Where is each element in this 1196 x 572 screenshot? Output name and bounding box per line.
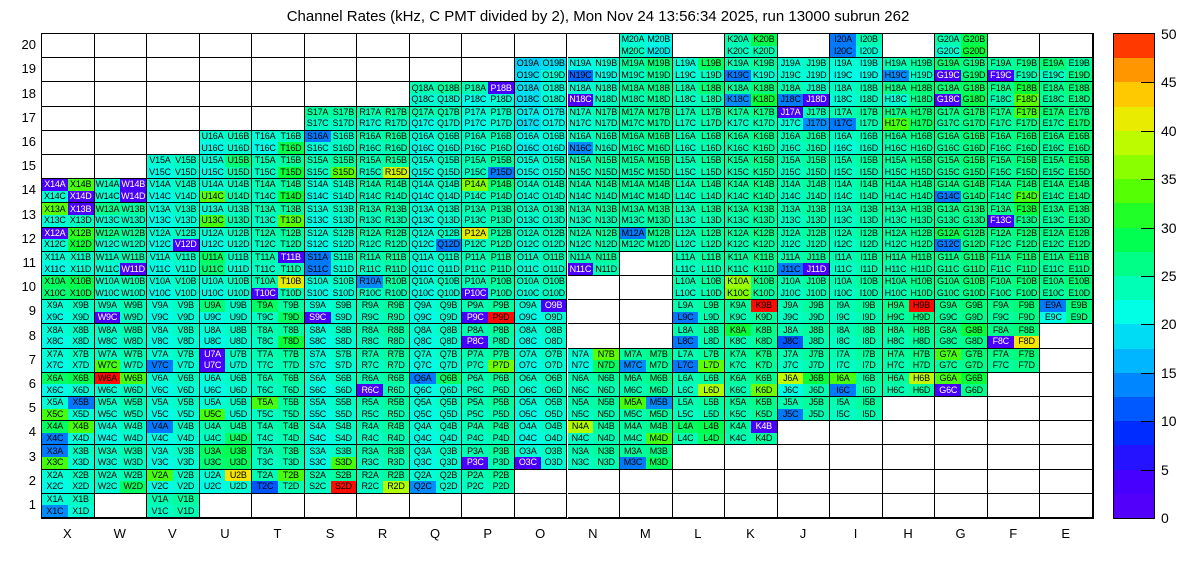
channel-S10C[interactable]: S10C <box>305 288 331 300</box>
channel-E16D[interactable]: E16D <box>1066 142 1092 154</box>
channel-P3C[interactable]: P3C <box>462 457 488 469</box>
heatmap-cell-U7[interactable]: U7AU7BU7CU7D <box>200 349 253 373</box>
channel-M16B[interactable]: M16B <box>646 131 672 143</box>
heatmap-cell-M16[interactable]: M16AM16BM16CM16D <box>620 131 673 155</box>
heatmap-cell-S8[interactable]: S8AS8BS8CS8D <box>305 324 358 348</box>
channel-F11B[interactable]: F11B <box>1014 252 1040 264</box>
channel-N5C[interactable]: N5C <box>568 409 594 421</box>
channel-J14A[interactable]: J14A <box>778 179 804 191</box>
heatmap-cell-X12[interactable]: X12AX12BX12CX12D <box>42 228 95 252</box>
channel-K20D[interactable]: K20D <box>751 46 777 58</box>
channel-W3D[interactable]: W3D <box>120 457 146 469</box>
heatmap-cell-O12[interactable]: O12AO12BO12CO12D <box>515 228 568 252</box>
channel-V8A[interactable]: V8A <box>147 324 173 336</box>
channel-M14B[interactable]: M14B <box>646 179 672 191</box>
channel-W8B[interactable]: W8B <box>120 324 146 336</box>
channel-N11D[interactable]: N11D <box>593 263 619 275</box>
heatmap-cell-N15[interactable]: N15AN15BN15CN15D <box>568 155 621 179</box>
channel-V13A[interactable]: V13A <box>147 203 173 215</box>
channel-G10B[interactable]: G10B <box>961 276 987 288</box>
heatmap-cell-H10[interactable]: H10AH10BH10CH10D <box>883 276 936 300</box>
heatmap-cell-N3[interactable]: N3AN3BN3CN3D <box>568 445 621 469</box>
heatmap-cell-V15[interactable]: V15AV15BV15CV15D <box>147 155 200 179</box>
channel-V2A[interactable]: V2A <box>147 470 173 482</box>
channel-O17C[interactable]: O17C <box>515 118 541 130</box>
channel-J19D[interactable]: J19D <box>803 70 829 82</box>
channel-G6A[interactable]: G6A <box>935 373 961 385</box>
channel-S8D[interactable]: S8D <box>331 336 357 348</box>
channel-M3D[interactable]: M3D <box>646 457 672 469</box>
channel-S16B[interactable]: S16B <box>331 131 357 143</box>
channel-K7A[interactable]: K7A <box>725 349 751 361</box>
channel-T14D[interactable]: T14D <box>278 191 304 203</box>
channel-X10A[interactable]: X10A <box>42 276 68 288</box>
channel-U7A[interactable]: U7A <box>200 349 226 361</box>
channel-V3B[interactable]: V3B <box>173 445 199 457</box>
channel-X14D[interactable]: X14D <box>68 191 94 203</box>
channel-U7D[interactable]: U7D <box>225 360 251 372</box>
channel-X4A[interactable]: X4A <box>42 421 68 433</box>
channel-P7C[interactable]: P7C <box>462 360 488 372</box>
channel-T16B[interactable]: T16B <box>278 131 304 143</box>
heatmap-cell-E12[interactable]: E12AE12BE12CE12D <box>1040 228 1093 252</box>
channel-V15C[interactable]: V15C <box>147 167 173 179</box>
channel-E15D[interactable]: E15D <box>1066 167 1092 179</box>
channel-T16C[interactable]: T16C <box>252 142 278 154</box>
channel-T8A[interactable]: T8A <box>252 324 278 336</box>
channel-F10A[interactable]: F10A <box>988 276 1014 288</box>
channel-I10D[interactable]: I10D <box>856 288 882 300</box>
channel-W11D[interactable]: W11D <box>120 263 146 275</box>
channel-X3B[interactable]: X3B <box>68 445 94 457</box>
channel-G9A[interactable]: G9A <box>935 300 961 312</box>
channel-L11A[interactable]: L11A <box>673 252 699 264</box>
channel-P5C[interactable]: P5C <box>462 409 488 421</box>
heatmap-cell-F8[interactable]: F8AF8BF8CF8D <box>988 324 1041 348</box>
channel-G8B[interactable]: G8B <box>961 324 987 336</box>
channel-G11D[interactable]: G11D <box>961 263 987 275</box>
heatmap-cell-U8[interactable]: U8AU8BU8CU8D <box>200 324 253 348</box>
channel-X13B[interactable]: X13B <box>68 203 94 215</box>
channel-Q7A[interactable]: Q7A <box>410 349 436 361</box>
heatmap-cell-J13[interactable]: J13AJ13BJ13CJ13D <box>778 203 831 227</box>
channel-T7C[interactable]: T7C <box>252 360 278 372</box>
channel-L10A[interactable]: L10A <box>673 276 699 288</box>
channel-T15A[interactable]: T15A <box>252 155 278 167</box>
channel-V4C[interactable]: V4C <box>147 433 173 445</box>
channel-U4D[interactable]: U4D <box>225 433 251 445</box>
channel-Q16B[interactable]: Q16B <box>436 131 462 143</box>
heatmap-cell-X2[interactable]: X2AX2BX2CX2D <box>42 470 95 494</box>
heatmap-cell-S16[interactable]: S16AS16BS16CS16D <box>305 131 358 155</box>
channel-R2D[interactable]: R2D <box>383 481 409 493</box>
heatmap-cell-M6[interactable]: M6AM6BM6CM6D <box>620 373 673 397</box>
channel-W11B[interactable]: W11B <box>120 252 146 264</box>
channel-E19D[interactable]: E19D <box>1066 70 1092 82</box>
channel-I16A[interactable]: I16A <box>830 131 856 143</box>
channel-L4C[interactable]: L4C <box>673 433 699 445</box>
channel-O7B[interactable]: O7B <box>541 349 567 361</box>
heatmap-cell-J16[interactable]: J16AJ16BJ16CJ16D <box>778 131 831 155</box>
channel-P11A[interactable]: P11A <box>462 252 488 264</box>
channel-M13D[interactable]: M13D <box>646 215 672 227</box>
heatmap-cell-E16[interactable]: E16AE16BE16CE16D <box>1040 131 1093 155</box>
channel-L14D[interactable]: L14D <box>698 191 724 203</box>
channel-E17A[interactable]: E17A <box>1040 107 1066 119</box>
heatmap-cell-I13[interactable]: I13AI13BI13CI13D <box>830 203 883 227</box>
heatmap-cell-J10[interactable]: J10AJ10BJ10CJ10D <box>778 276 831 300</box>
channel-T10D[interactable]: T10D <box>278 288 304 300</box>
channel-F15D[interactable]: F15D <box>1014 167 1040 179</box>
channel-L15B[interactable]: L15B <box>698 155 724 167</box>
channel-P6A[interactable]: P6A <box>462 373 488 385</box>
channel-U8D[interactable]: U8D <box>225 336 251 348</box>
channel-S4D[interactable]: S4D <box>331 433 357 445</box>
channel-J8D[interactable]: J8D <box>803 336 829 348</box>
channel-G18A[interactable]: G18A <box>935 82 961 94</box>
channel-O11D[interactable]: O11D <box>541 263 567 275</box>
channel-X5A[interactable]: X5A <box>42 397 68 409</box>
channel-L18B[interactable]: L18B <box>698 82 724 94</box>
channel-M6A[interactable]: M6A <box>620 373 646 385</box>
channel-L4A[interactable]: L4A <box>673 421 699 433</box>
channel-I20A[interactable]: I20A <box>830 34 856 46</box>
channel-T11C[interactable]: T11C <box>252 263 278 275</box>
channel-G16A[interactable]: G16A <box>935 131 961 143</box>
channel-U5A[interactable]: U5A <box>200 397 226 409</box>
heatmap-cell-Q7[interactable]: Q7AQ7BQ7CQ7D <box>410 349 463 373</box>
channel-M19B[interactable]: M19B <box>646 58 672 70</box>
channel-G7B[interactable]: G7B <box>961 349 987 361</box>
channel-Q15D[interactable]: Q15D <box>436 167 462 179</box>
heatmap-cell-Q16[interactable]: Q16AQ16BQ16CQ16D <box>410 131 463 155</box>
channel-V5D[interactable]: V5D <box>173 409 199 421</box>
channel-N16D[interactable]: N16D <box>593 142 619 154</box>
channel-K6A[interactable]: K6A <box>725 373 751 385</box>
heatmap-cell-G8[interactable]: G8AG8BG8CG8D <box>935 324 988 348</box>
channel-R17B[interactable]: R17B <box>383 107 409 119</box>
channel-I6C[interactable]: I6C <box>830 384 856 396</box>
channel-H6B[interactable]: H6B <box>909 373 935 385</box>
channel-I7B[interactable]: I7B <box>856 349 882 361</box>
channel-W10C[interactable]: W10C <box>95 288 121 300</box>
channel-U12D[interactable]: U12D <box>225 239 251 251</box>
channel-O14D[interactable]: O14D <box>541 191 567 203</box>
channel-W13D[interactable]: W13D <box>120 215 146 227</box>
channel-F12B[interactable]: F12B <box>1014 228 1040 240</box>
channel-U13D[interactable]: U13D <box>225 215 251 227</box>
channel-F8C[interactable]: F8C <box>988 336 1014 348</box>
heatmap-cell-N18[interactable]: N18AN18BN18CN18D <box>568 82 621 106</box>
channel-R17C[interactable]: R17C <box>357 118 383 130</box>
channel-R7A[interactable]: R7A <box>357 349 383 361</box>
channel-U9D[interactable]: U9D <box>225 312 251 324</box>
channel-S5C[interactable]: S5C <box>305 409 331 421</box>
channel-U15A[interactable]: U15A <box>200 155 226 167</box>
heatmap-cell-P12[interactable]: P12AP12BP12CP12D <box>462 228 515 252</box>
channel-H13D[interactable]: H13D <box>909 215 935 227</box>
heatmap-cell-L9[interactable]: L9AL9BL9CL9D <box>673 300 726 324</box>
channel-K14D[interactable]: K14D <box>751 191 777 203</box>
heatmap-cell-T9[interactable]: T9AT9BT9CT9D <box>252 300 305 324</box>
channel-H6A[interactable]: H6A <box>883 373 909 385</box>
channel-N4A[interactable]: N4A <box>568 421 594 433</box>
channel-W4D[interactable]: W4D <box>120 433 146 445</box>
channel-Q15A[interactable]: Q15A <box>410 155 436 167</box>
channel-U2C[interactable]: U2C <box>200 481 226 493</box>
channel-S15B[interactable]: S15B <box>331 155 357 167</box>
heatmap-cell-G18[interactable]: G18AG18BG18CG18D <box>935 82 988 106</box>
channel-J5A[interactable]: J5A <box>778 397 804 409</box>
channel-S17B[interactable]: S17B <box>331 107 357 119</box>
heatmap-cell-W2[interactable]: W2AW2BW2CW2D <box>95 470 148 494</box>
heatmap-cell-O7[interactable]: O7AO7BO7CO7D <box>515 349 568 373</box>
channel-P18C[interactable]: P18C <box>462 94 488 106</box>
heatmap-cell-Q14[interactable]: Q14AQ14BQ14CQ14D <box>410 179 463 203</box>
channel-T8D[interactable]: T8D <box>278 336 304 348</box>
channel-H12C[interactable]: H12C <box>883 239 909 251</box>
channel-T14B[interactable]: T14B <box>278 179 304 191</box>
channel-F13A[interactable]: F13A <box>988 203 1014 215</box>
channel-T2A[interactable]: T2A <box>252 470 278 482</box>
heatmap-cell-N7[interactable]: N7AN7BN7CN7D <box>568 349 621 373</box>
channel-Q10D[interactable]: Q10D <box>436 288 462 300</box>
channel-Q6D[interactable]: Q6D <box>436 384 462 396</box>
channel-P18B[interactable]: P18B <box>488 82 514 94</box>
channel-X12D[interactable]: X12D <box>68 239 94 251</box>
channel-J10A[interactable]: J10A <box>778 276 804 288</box>
heatmap-cell-V12[interactable]: V12AV12BV12CV12D <box>147 228 200 252</box>
channel-J13D[interactable]: J13D <box>803 215 829 227</box>
channel-Q13B[interactable]: Q13B <box>436 203 462 215</box>
channel-G12C[interactable]: G12C <box>935 239 961 251</box>
channel-J15A[interactable]: J15A <box>778 155 804 167</box>
channel-E12B[interactable]: E12B <box>1066 228 1092 240</box>
heatmap-cell-R17[interactable]: R17AR17BR17CR17D <box>357 107 410 131</box>
channel-P12D[interactable]: P12D <box>488 239 514 251</box>
channel-K6D[interactable]: K6D <box>751 384 777 396</box>
channel-X2A[interactable]: X2A <box>42 470 68 482</box>
channel-V9C[interactable]: V9C <box>147 312 173 324</box>
channel-U11C[interactable]: U11C <box>200 263 226 275</box>
channel-E13D[interactable]: E13D <box>1066 215 1092 227</box>
heatmap-cell-S4[interactable]: S4AS4BS4CS4D <box>305 421 358 445</box>
heatmap-cell-H16[interactable]: H16AH16BH16CH16D <box>883 131 936 155</box>
channel-Q5C[interactable]: Q5C <box>410 409 436 421</box>
channel-V7B[interactable]: V7B <box>173 349 199 361</box>
channel-S10B[interactable]: S10B <box>331 276 357 288</box>
channel-X13D[interactable]: X13D <box>68 215 94 227</box>
channel-R16B[interactable]: R16B <box>383 131 409 143</box>
channel-K13B[interactable]: K13B <box>751 203 777 215</box>
channel-W7B[interactable]: W7B <box>120 349 146 361</box>
channel-Q4B[interactable]: Q4B <box>436 421 462 433</box>
channel-F18A[interactable]: F18A <box>988 82 1014 94</box>
channel-G10C[interactable]: G10C <box>935 288 961 300</box>
channel-K11A[interactable]: K11A <box>725 252 751 264</box>
channel-S11A[interactable]: S11A <box>305 252 331 264</box>
channel-V11A[interactable]: V11A <box>147 252 173 264</box>
heatmap-cell-E10[interactable]: E10AE10BE10CE10D <box>1040 276 1093 300</box>
channel-Q14C[interactable]: Q14C <box>410 191 436 203</box>
channel-K15D[interactable]: K15D <box>751 167 777 179</box>
heatmap-cell-L15[interactable]: L15AL15BL15CL15D <box>673 155 726 179</box>
heatmap-cell-K19[interactable]: K19AK19BK19CK19D <box>725 58 778 82</box>
channel-F17B[interactable]: F17B <box>1014 107 1040 119</box>
channel-T9D[interactable]: T9D <box>278 312 304 324</box>
channel-N15C[interactable]: N15C <box>568 167 594 179</box>
channel-V14A[interactable]: V14A <box>147 179 173 191</box>
channel-U9A[interactable]: U9A <box>200 300 226 312</box>
channel-K5B[interactable]: K5B <box>751 397 777 409</box>
channel-O12A[interactable]: O12A <box>515 228 541 240</box>
channel-M6C[interactable]: M6C <box>620 384 646 396</box>
channel-I7C[interactable]: I7C <box>830 360 856 372</box>
channel-X8B[interactable]: X8B <box>68 324 94 336</box>
channel-I6A[interactable]: I6A <box>830 373 856 385</box>
heatmap-cell-P4[interactable]: P4AP4BP4CP4D <box>462 421 515 445</box>
channel-J6B[interactable]: J6B <box>803 373 829 385</box>
heatmap-cell-E15[interactable]: E15AE15BE15CE15D <box>1040 155 1093 179</box>
heatmap-cell-T5[interactable]: T5AT5BT5CT5D <box>252 397 305 421</box>
channel-F17C[interactable]: F17C <box>988 118 1014 130</box>
heatmap-cell-M12[interactable]: M12AM12BM12CM12D <box>620 228 673 252</box>
channel-R6B[interactable]: R6B <box>383 373 409 385</box>
channel-M4C[interactable]: M4C <box>620 433 646 445</box>
channel-R2A[interactable]: R2A <box>357 470 383 482</box>
channel-X11D[interactable]: X11D <box>68 263 94 275</box>
heatmap-cell-G7[interactable]: G7AG7BG7CG7D <box>935 349 988 373</box>
channel-L18C[interactable]: L18C <box>673 94 699 106</box>
channel-O14A[interactable]: O14A <box>515 179 541 191</box>
channel-P12C[interactable]: P12C <box>462 239 488 251</box>
channel-K18A[interactable]: K18A <box>725 82 751 94</box>
channel-M4D[interactable]: M4D <box>646 433 672 445</box>
channel-J13B[interactable]: J13B <box>803 203 829 215</box>
channel-S13C[interactable]: S13C <box>305 215 331 227</box>
channel-P13A[interactable]: P13A <box>462 203 488 215</box>
channel-R14C[interactable]: R14C <box>357 191 383 203</box>
channel-J13A[interactable]: J13A <box>778 203 804 215</box>
channel-Q3B[interactable]: Q3B <box>436 445 462 457</box>
channel-I19B[interactable]: I19B <box>856 58 882 70</box>
channel-U5B[interactable]: U5B <box>225 397 251 409</box>
channel-M12A[interactable]: M12A <box>620 228 646 240</box>
channel-P10B[interactable]: P10B <box>488 276 514 288</box>
channel-Q3A[interactable]: Q3A <box>410 445 436 457</box>
channel-W14C[interactable]: W14C <box>95 191 121 203</box>
channel-W12B[interactable]: W12B <box>120 228 146 240</box>
channel-R7C[interactable]: R7C <box>357 360 383 372</box>
channel-H18D[interactable]: H18D <box>909 94 935 106</box>
heatmap-cell-I17[interactable]: I17AI17BI17CI17D <box>830 107 883 131</box>
channel-J11D[interactable]: J11D <box>803 263 829 275</box>
channel-S9B[interactable]: S9B <box>331 300 357 312</box>
channel-X6A[interactable]: X6A <box>42 373 68 385</box>
channel-P17A[interactable]: P17A <box>462 107 488 119</box>
channel-G17C[interactable]: G17C <box>935 118 961 130</box>
channel-F19D[interactable]: F19D <box>1014 70 1040 82</box>
channel-L12D[interactable]: L12D <box>698 239 724 251</box>
channel-I5D[interactable]: I5D <box>856 409 882 421</box>
channel-L8D[interactable]: L8D <box>698 336 724 348</box>
channel-I15C[interactable]: I15C <box>830 167 856 179</box>
channel-R11D[interactable]: R11D <box>383 263 409 275</box>
channel-R10B[interactable]: R10B <box>383 276 409 288</box>
channel-R8A[interactable]: R8A <box>357 324 383 336</box>
channel-R16C[interactable]: R16C <box>357 142 383 154</box>
channel-I18D[interactable]: I18D <box>856 94 882 106</box>
channel-I13B[interactable]: I13B <box>856 203 882 215</box>
channel-I10A[interactable]: I10A <box>830 276 856 288</box>
channel-W14D[interactable]: W14D <box>120 191 146 203</box>
channel-L13D[interactable]: L13D <box>698 215 724 227</box>
channel-G12A[interactable]: G12A <box>935 228 961 240</box>
channel-J17A[interactable]: J17A <box>778 107 804 119</box>
heatmap-cell-S9[interactable]: S9AS9BS9CS9D <box>305 300 358 324</box>
heatmap-cell-K5[interactable]: K5AK5BK5CK5D <box>725 397 778 421</box>
heatmap-cell-N16[interactable]: N16AN16BN16CN16D <box>568 131 621 155</box>
channel-W4B[interactable]: W4B <box>120 421 146 433</box>
channel-O18D[interactable]: O18D <box>541 94 567 106</box>
channel-Q9A[interactable]: Q9A <box>410 300 436 312</box>
channel-M17C[interactable]: M17C <box>620 118 646 130</box>
channel-I8B[interactable]: I8B <box>856 324 882 336</box>
heatmap-cell-G11[interactable]: G11AG11BG11CG11D <box>935 252 988 276</box>
channel-M20D[interactable]: M20D <box>646 46 672 58</box>
channel-I7A[interactable]: I7A <box>830 349 856 361</box>
heatmap-cell-R5[interactable]: R5AR5BR5CR5D <box>357 397 410 421</box>
channel-L6C[interactable]: L6C <box>673 384 699 396</box>
channel-J12D[interactable]: J12D <box>803 239 829 251</box>
channel-M14C[interactable]: M14C <box>620 191 646 203</box>
channel-J16D[interactable]: J16D <box>803 142 829 154</box>
heatmap-cell-S13[interactable]: S13AS13BS13CS13D <box>305 203 358 227</box>
channel-R15C[interactable]: R15C <box>357 167 383 179</box>
channel-Q10B[interactable]: Q10B <box>436 276 462 288</box>
channel-M15B[interactable]: M15B <box>646 155 672 167</box>
channel-L11C[interactable]: L11C <box>673 263 699 275</box>
heatmap-cell-W8[interactable]: W8AW8BW8CW8D <box>95 324 148 348</box>
channel-J6A[interactable]: J6A <box>778 373 804 385</box>
channel-R3D[interactable]: R3D <box>383 457 409 469</box>
channel-O13A[interactable]: O13A <box>515 203 541 215</box>
channel-G14B[interactable]: G14B <box>961 179 987 191</box>
channel-L6A[interactable]: L6A <box>673 373 699 385</box>
heatmap-cell-U6[interactable]: U6AU6BU6CU6D <box>200 373 253 397</box>
channel-O16D[interactable]: O16D <box>541 142 567 154</box>
channel-R4C[interactable]: R4C <box>357 433 383 445</box>
channel-N3B[interactable]: N3B <box>593 445 619 457</box>
heatmap-cell-G12[interactable]: G12AG12BG12CG12D <box>935 228 988 252</box>
channel-W5C[interactable]: W5C <box>95 409 121 421</box>
channel-F18C[interactable]: F18C <box>988 94 1014 106</box>
heatmap-cell-S11[interactable]: S11AS11BS11CS11D <box>305 252 358 276</box>
channel-G18D[interactable]: G18D <box>961 94 987 106</box>
channel-N18D[interactable]: N18D <box>593 94 619 106</box>
channel-T9C[interactable]: T9C <box>252 312 278 324</box>
heatmap-cell-L8[interactable]: L8AL8BL8CL8D <box>673 324 726 348</box>
channel-P7B[interactable]: P7B <box>488 349 514 361</box>
channel-J7D[interactable]: J7D <box>803 360 829 372</box>
channel-P13C[interactable]: P13C <box>462 215 488 227</box>
channel-F10D[interactable]: F10D <box>1014 288 1040 300</box>
channel-Q14A[interactable]: Q14A <box>410 179 436 191</box>
channel-E9A[interactable]: E9A <box>1040 300 1066 312</box>
heatmap-cell-P17[interactable]: P17AP17BP17CP17D <box>462 107 515 131</box>
channel-T13B[interactable]: T13B <box>278 203 304 215</box>
channel-U2D[interactable]: U2D <box>225 481 251 493</box>
